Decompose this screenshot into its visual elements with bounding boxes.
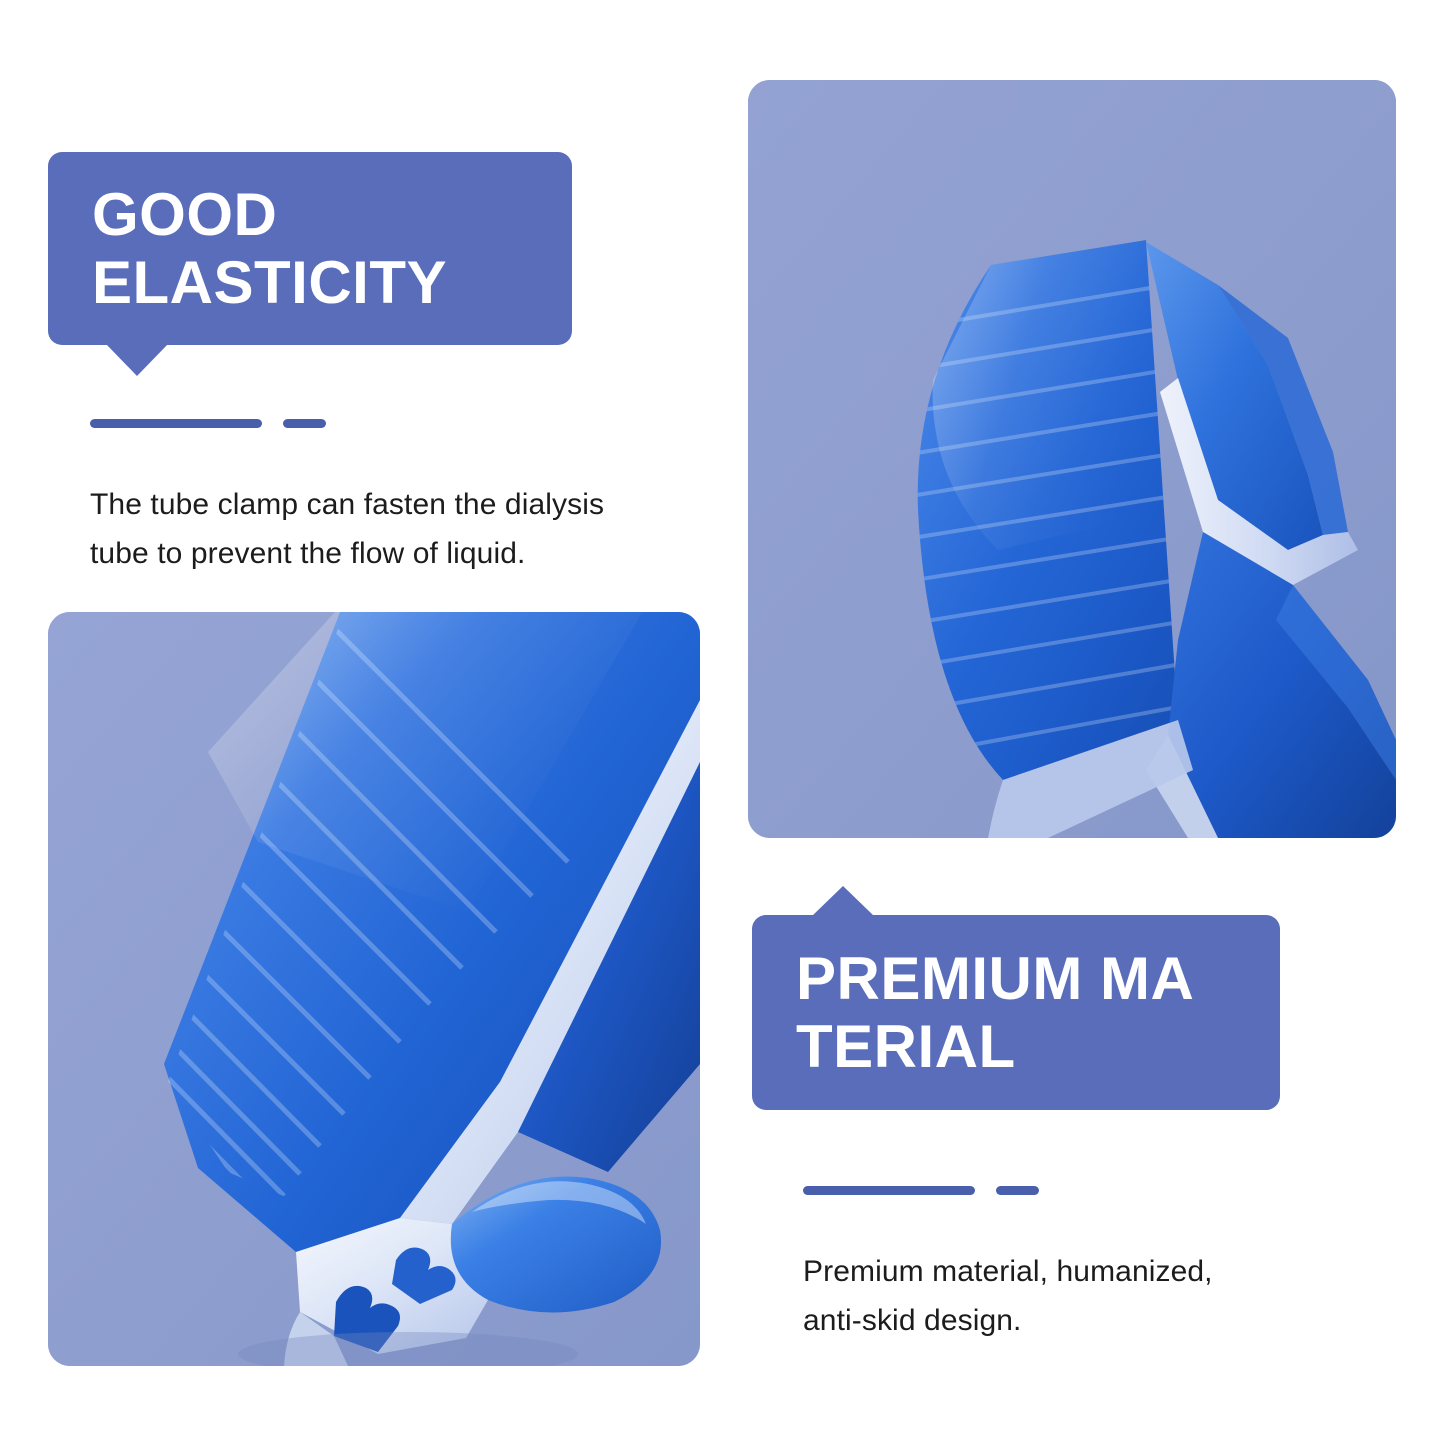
clamp-closed-illustration <box>748 80 1396 838</box>
badge-premium-material: PREMIUM MA TERIAL <box>752 915 1280 1110</box>
divider-good-elasticity <box>90 419 326 428</box>
dash-short-icon <box>283 419 326 428</box>
badge-tail-up-icon <box>812 886 874 916</box>
badge-good-elasticity-label: GOOD ELASTICITY <box>48 181 572 315</box>
product-photo-top-right <box>748 80 1396 838</box>
badge-tail-down-icon <box>106 344 168 376</box>
dash-long-icon <box>803 1186 975 1195</box>
dash-long-icon <box>90 419 262 428</box>
description-premium-material: Premium material, humanized, anti-skid d… <box>803 1248 1363 1345</box>
infographic-page: GOOD ELASTICITY The tube clamp can faste… <box>0 0 1445 1445</box>
badge-good-elasticity: GOOD ELASTICITY <box>48 152 572 345</box>
dash-short-icon <box>996 1186 1039 1195</box>
clamp-jaw-detail-illustration <box>48 612 700 1366</box>
divider-premium-material <box>803 1186 1039 1195</box>
product-photo-bottom-left <box>48 612 700 1366</box>
description-good-elasticity: The tube clamp can fasten the dialysis t… <box>90 481 650 578</box>
badge-premium-material-label: PREMIUM MA TERIAL <box>752 945 1280 1079</box>
